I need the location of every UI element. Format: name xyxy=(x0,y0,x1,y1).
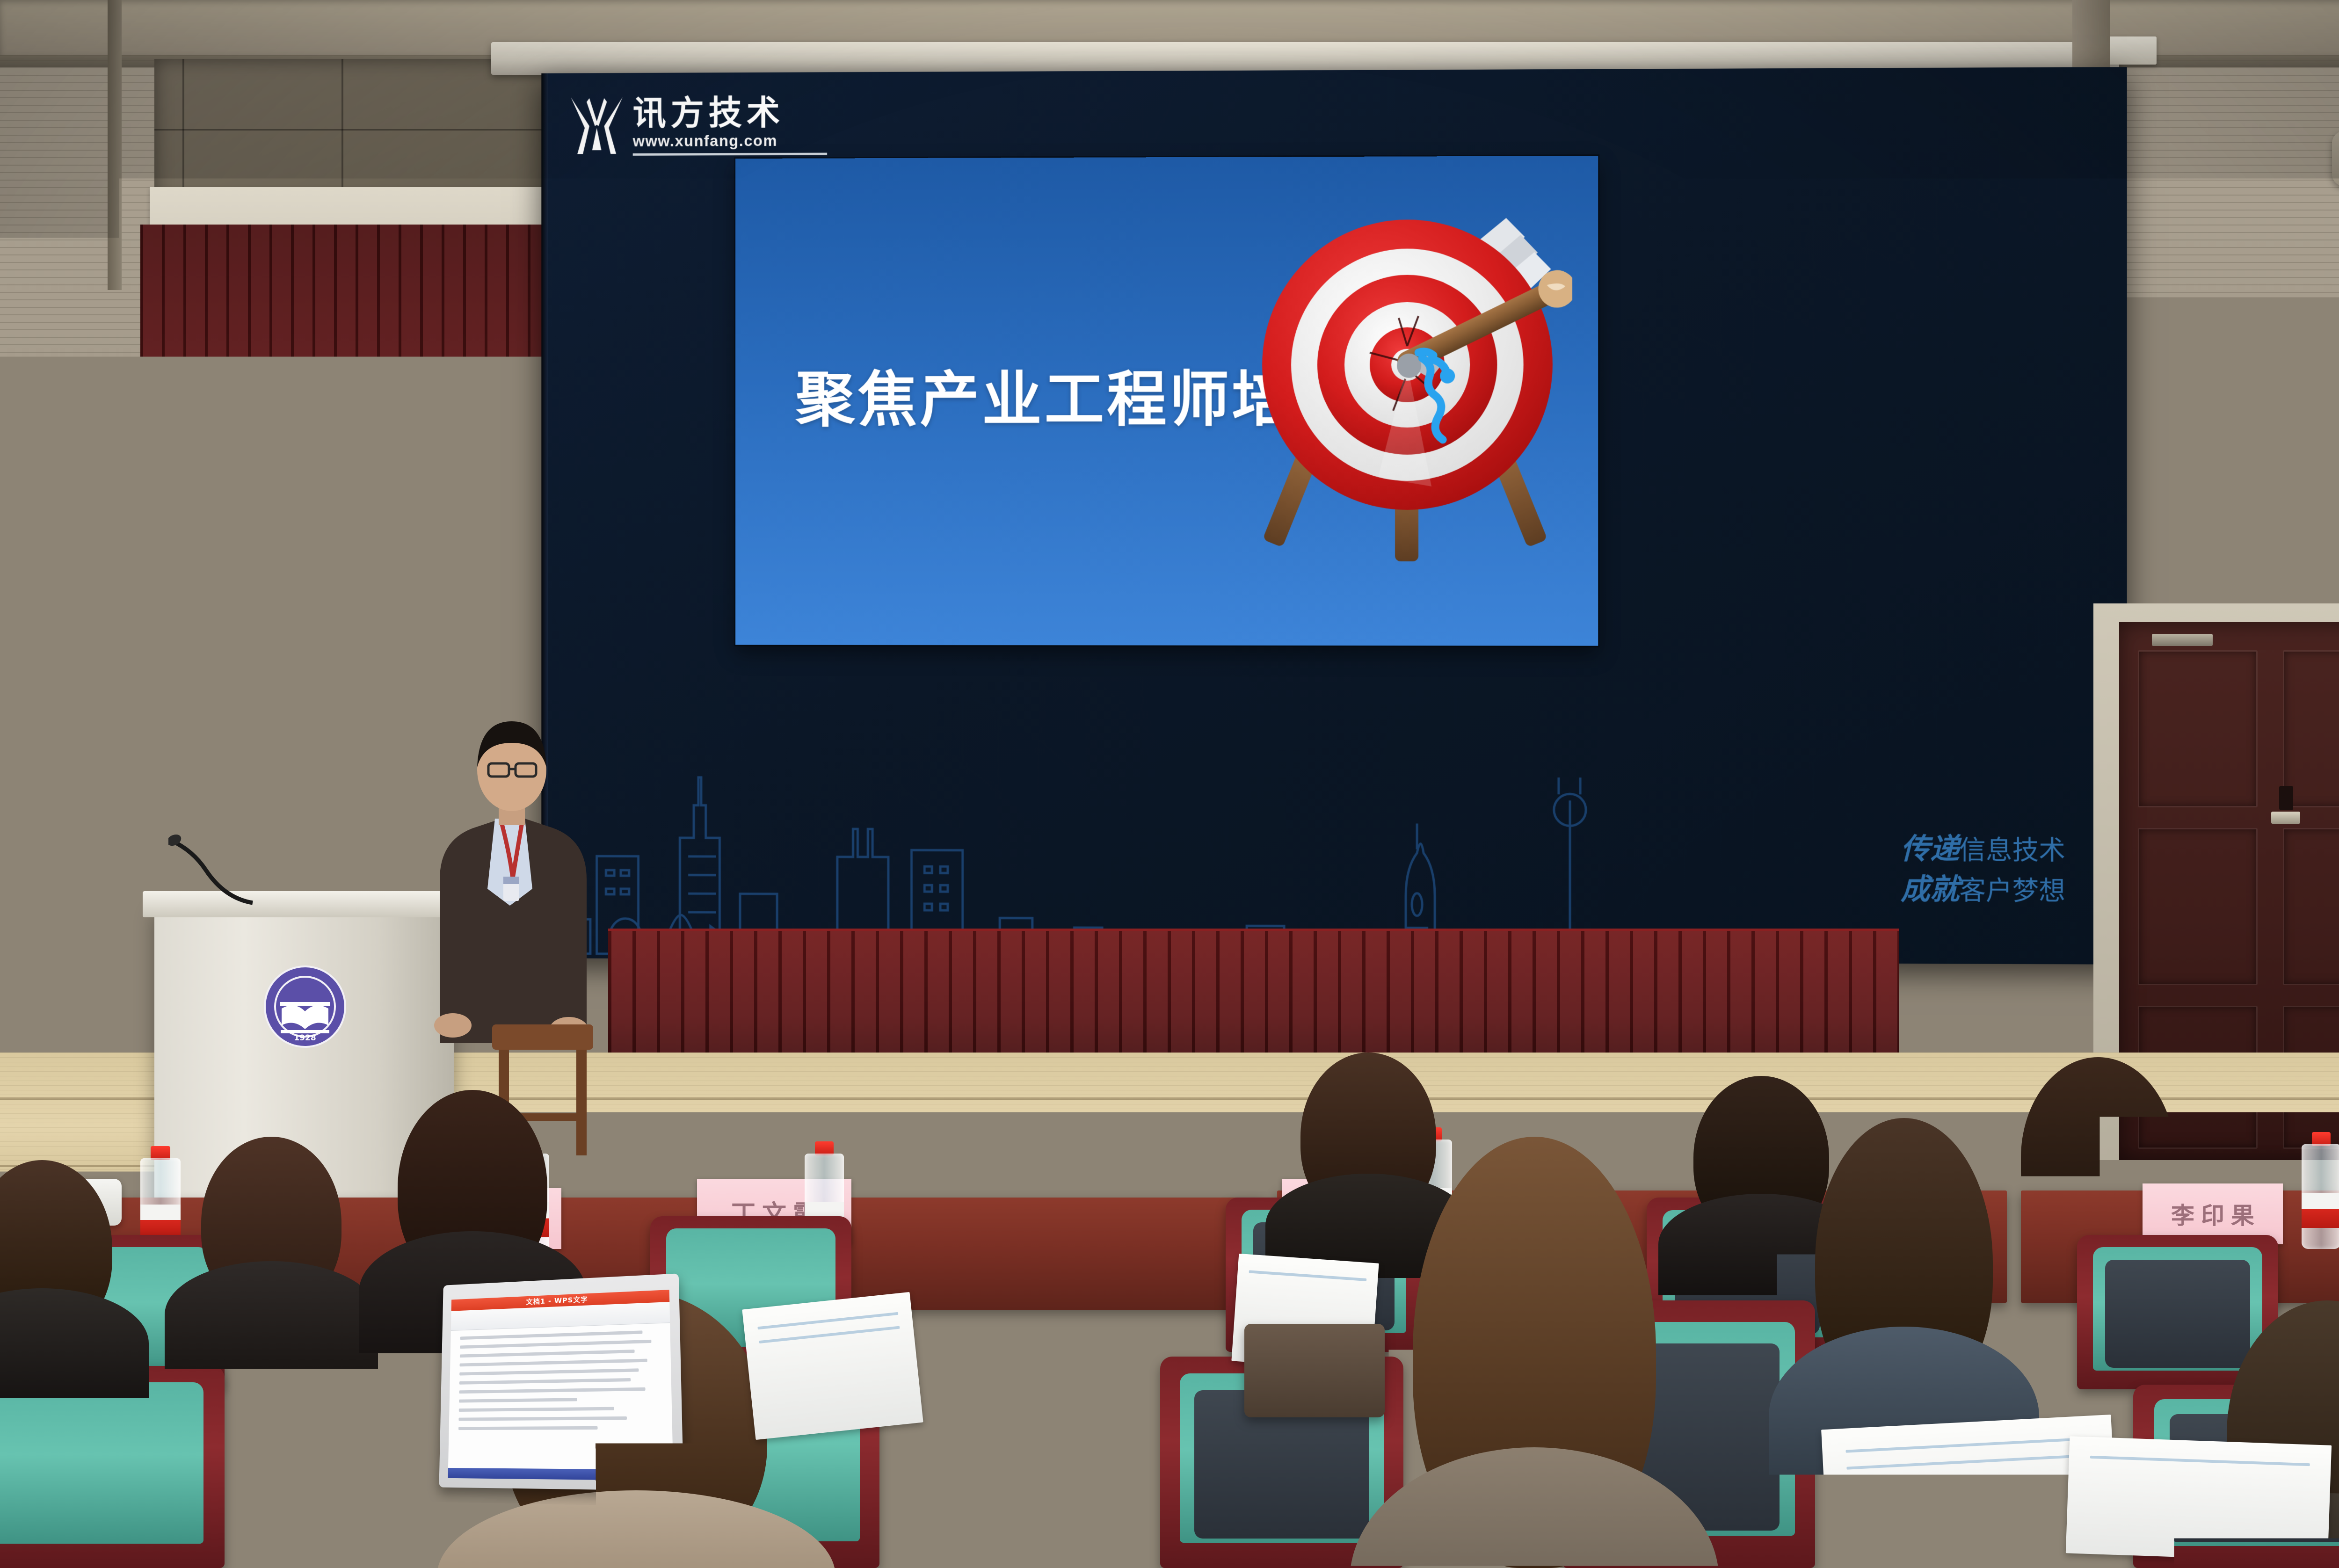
attendee-1 xyxy=(201,1137,341,1310)
presenter xyxy=(412,678,613,1043)
left-cabinet xyxy=(0,617,112,1053)
clock-seconds: 41 xyxy=(2253,311,2290,345)
digital-clock: 15 37 41 xyxy=(2154,306,2295,349)
university-seal-emblem: 1928 xyxy=(262,964,349,1050)
presentation-slide: 聚焦产业工程师培养 xyxy=(735,156,1598,646)
vendor-slogan: 传递信息技术 成就客户梦想 xyxy=(1901,830,2065,907)
door-lock xyxy=(2279,786,2293,810)
logo-underline xyxy=(633,153,827,156)
clock-minutes: 37 xyxy=(2206,311,2243,345)
clock-hours: 15 xyxy=(2159,311,2196,345)
left-wall-box xyxy=(9,870,80,926)
motion-sensor xyxy=(2332,131,2339,186)
hall-floor xyxy=(0,1340,2339,1568)
slogan-line2-rest: 客户梦想 xyxy=(1959,875,2065,906)
seal-year: 1928 xyxy=(294,1033,316,1043)
gooseneck-microphone xyxy=(168,828,262,907)
projection-screen: 讯方技术 www.xunfang.com 聚焦产业工程师培养 xyxy=(541,67,2127,965)
water-bottle-5 xyxy=(2302,1132,2339,1249)
vendor-name-cn: 讯方技术 xyxy=(633,95,827,130)
door-closer xyxy=(2152,634,2213,646)
door-handle[interactable] xyxy=(2271,812,2300,824)
attendee-8 xyxy=(2021,1057,2175,1258)
attendee-2 xyxy=(398,1090,547,1286)
attendee-6 xyxy=(1693,1076,1829,1240)
vendor-website: www.xunfang.com xyxy=(633,133,827,149)
slogan-line2-bold: 成就 xyxy=(1901,871,1959,906)
attendee-10 xyxy=(0,1160,112,1338)
target-illustration xyxy=(1244,177,1572,566)
slogan-line1-bold: 传递 xyxy=(1901,831,1959,866)
xunfang-logo-mark xyxy=(569,95,624,156)
lecture-hall-scene: 15 37 41 xyxy=(0,0,2339,1568)
wall-pillar xyxy=(108,0,122,290)
vendor-logo: 讯方技术 www.xunfang.com xyxy=(569,94,827,156)
slogan-line1-rest: 信息技术 xyxy=(1959,835,2065,866)
